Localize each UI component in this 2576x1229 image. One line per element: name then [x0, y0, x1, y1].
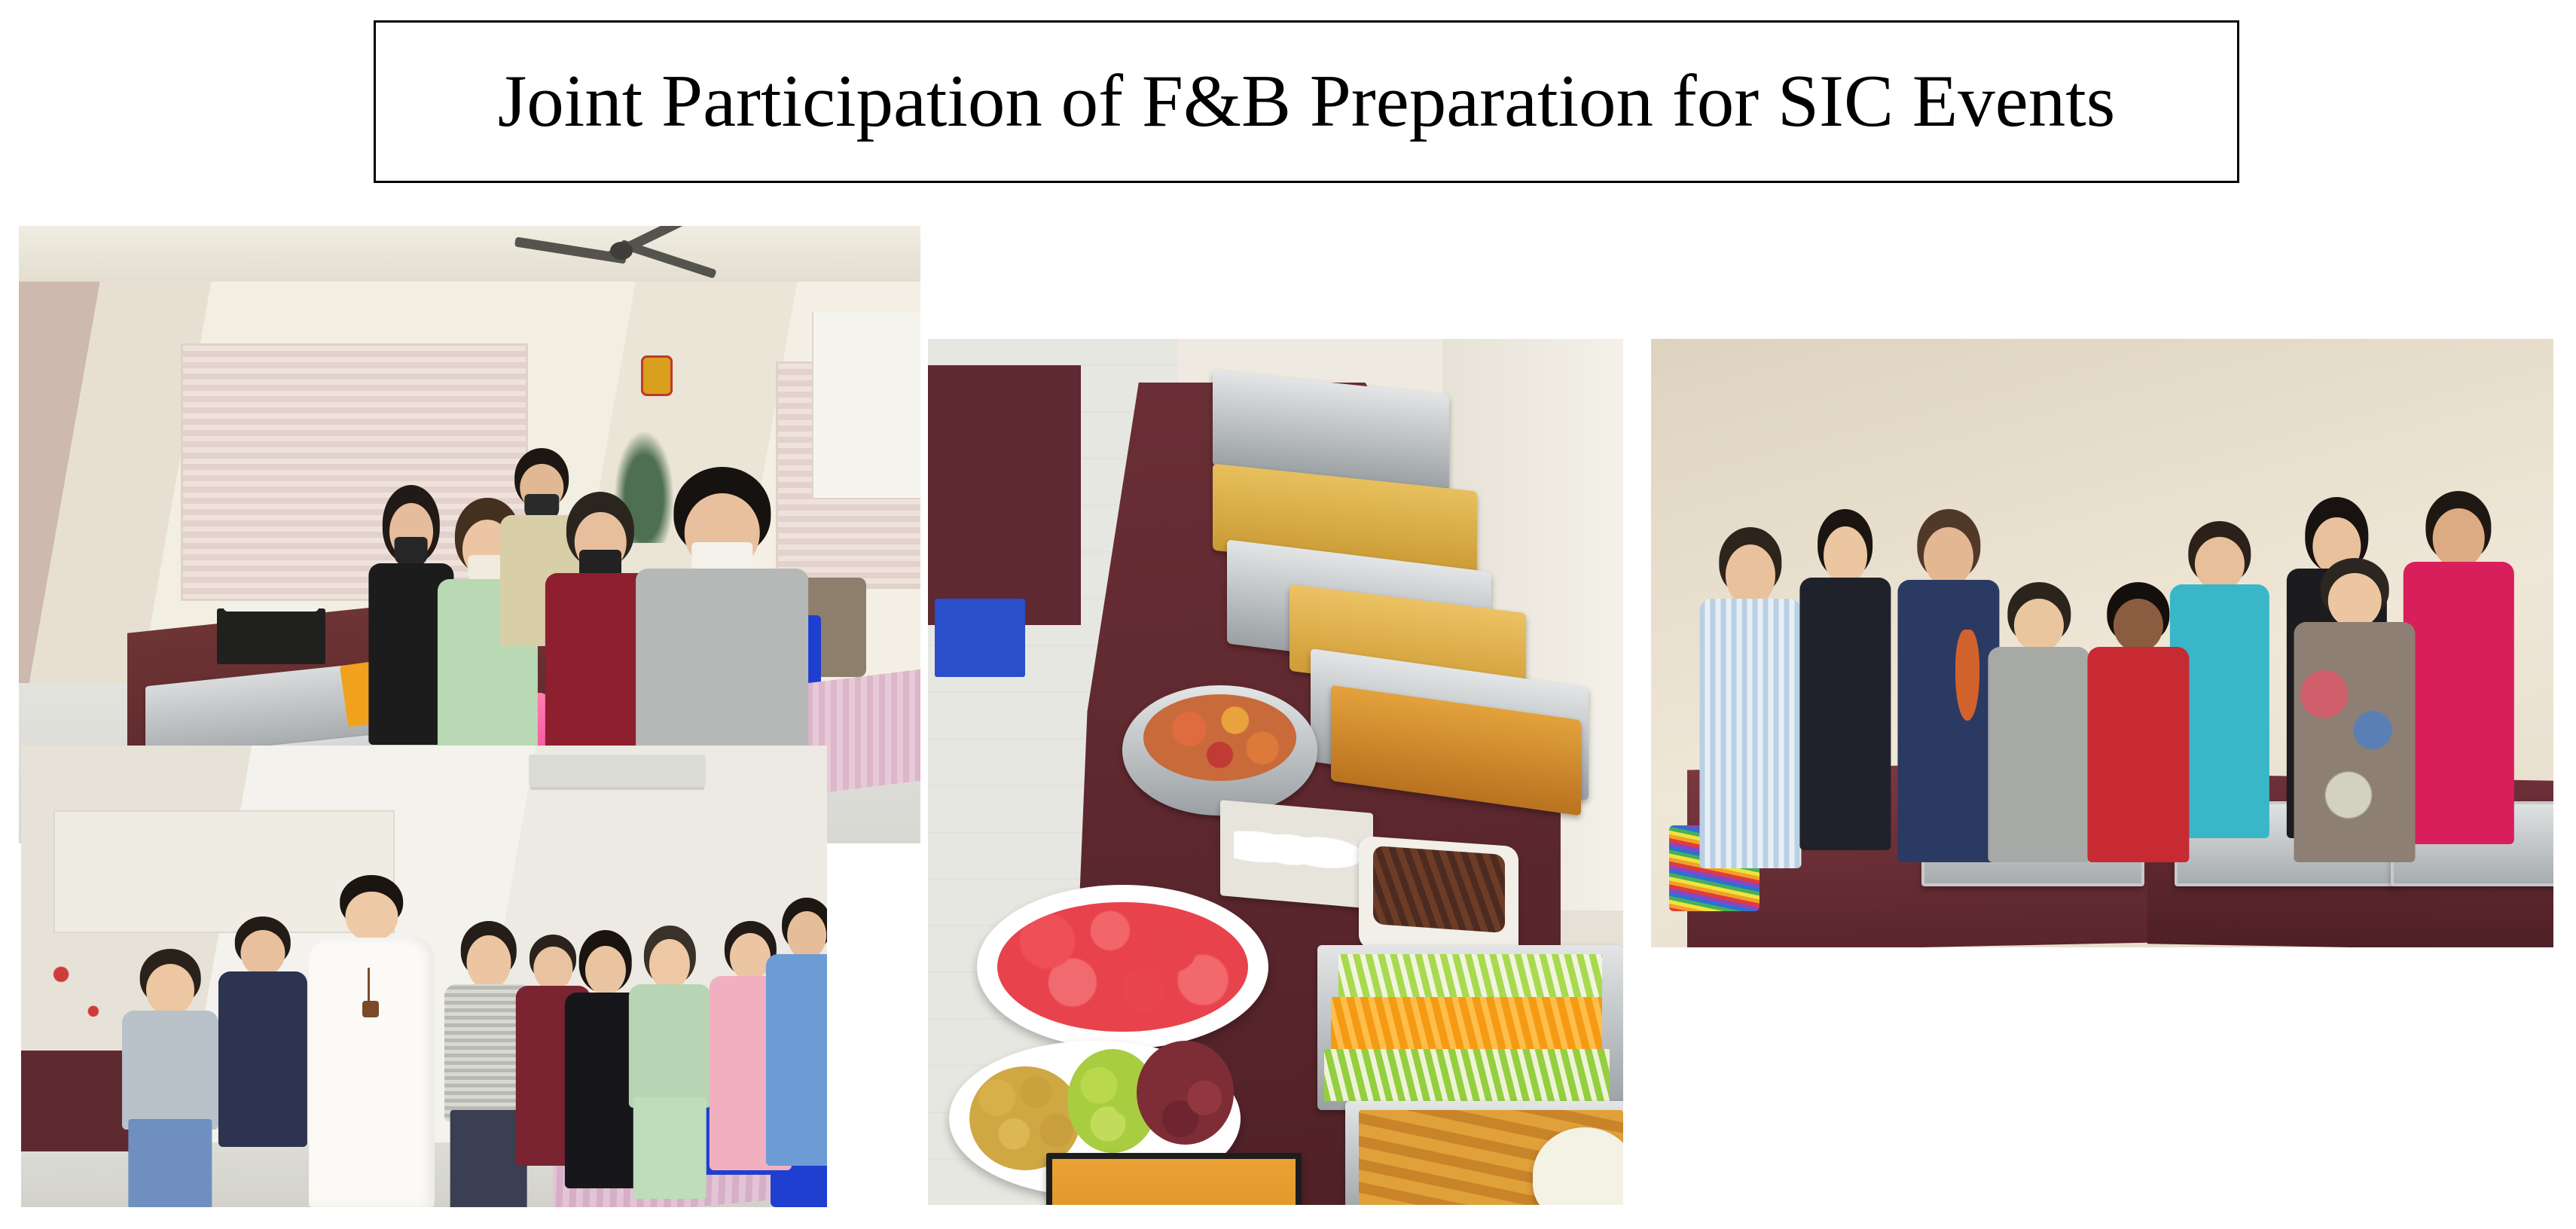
priest	[304, 875, 441, 1207]
volunteer	[2292, 558, 2419, 862]
dates	[1373, 845, 1505, 932]
blossom-branch	[37, 930, 118, 1078]
honeydew-bottom-row	[1324, 1049, 1609, 1101]
air-conditioner	[529, 755, 706, 787]
photo-volunteers-scene	[1651, 339, 2553, 947]
red-grapes	[1137, 1041, 1234, 1145]
volunteer	[2084, 582, 2193, 862]
group-member	[118, 949, 222, 1207]
group-member	[762, 898, 827, 1166]
fu-decoration-icon	[641, 355, 673, 396]
page-title: Joint Participation of F&B Preparation f…	[498, 63, 2116, 141]
volunteer	[1796, 509, 1895, 849]
blue-crate	[935, 599, 1025, 677]
boiled-eggs	[1234, 810, 1359, 890]
photo-buffet-spread-scene	[928, 339, 1623, 1205]
volunteer	[1696, 527, 1805, 868]
title-box: Joint Participation of F&B Preparation f…	[374, 20, 2239, 183]
orange-slices-row	[1331, 997, 1602, 1049]
volunteer	[1985, 582, 2093, 862]
ceiling-fan-icon	[514, 226, 731, 276]
hall-door	[812, 313, 920, 498]
ceiling	[19, 226, 920, 282]
slide-canvas: Joint Participation of F&B Preparation f…	[0, 0, 2576, 1229]
side-table	[928, 365, 1081, 625]
honeydew-top-row	[1338, 954, 1603, 998]
group-member	[215, 916, 311, 1148]
photo-buffet-spread	[928, 339, 1623, 1205]
sponge-cake	[1046, 1153, 1302, 1205]
watermelon-cubes	[997, 902, 1247, 1032]
salad-contents	[1143, 694, 1296, 781]
group-member	[626, 926, 715, 1194]
photo-group-priest-scene	[21, 746, 827, 1207]
photo-volunteers	[1651, 339, 2553, 947]
photo-group-priest	[21, 746, 827, 1207]
bread-basket	[217, 608, 325, 664]
